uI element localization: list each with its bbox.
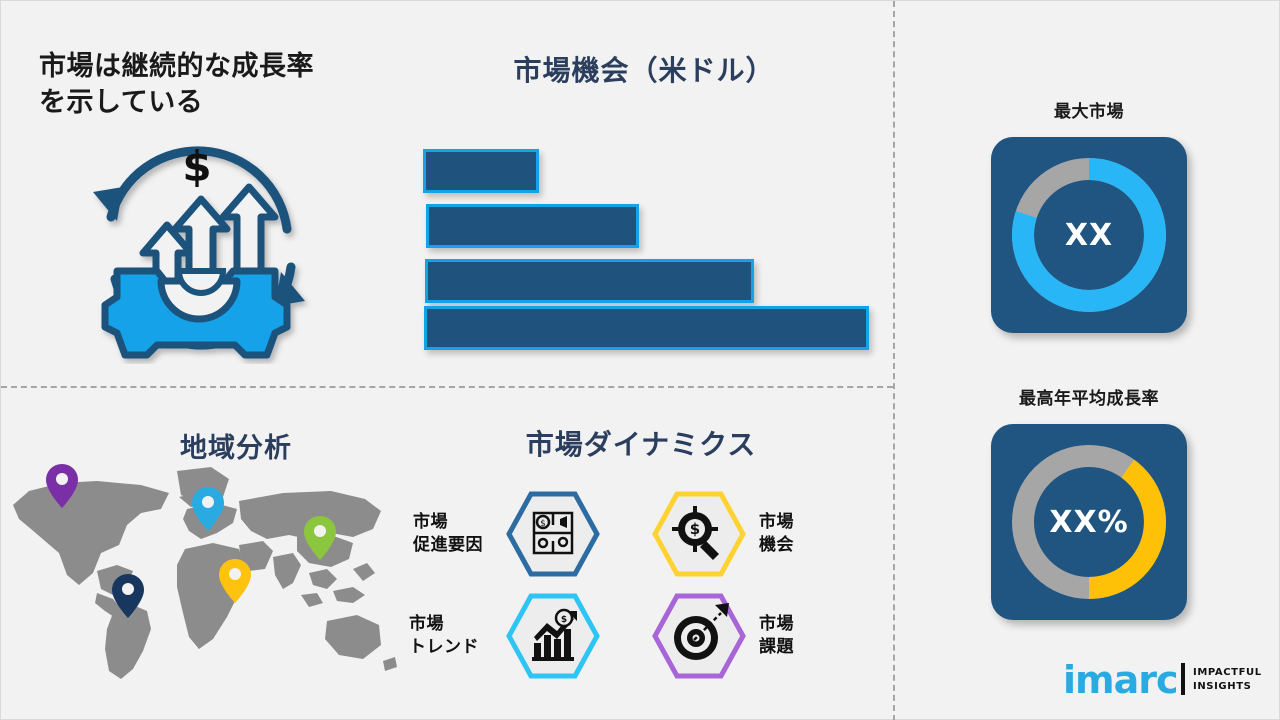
dynamics-item-market-trends[interactable]: 市場 トレンド $: [409, 593, 601, 679]
market-dynamics-heading: 市場ダイナミクス: [406, 423, 876, 463]
dynamics-item-market-drivers[interactable]: 市場 促進要因 $: [413, 491, 601, 577]
dynamics-label-market-opportunities: 市場 機会: [759, 511, 839, 557]
infographic-slide: 市場は継続的な成長率 を示している: [0, 0, 1280, 720]
logo-wordmark: imarc: [1063, 661, 1178, 699]
svg-text:$: $: [561, 615, 567, 625]
highest-cagr-heading: 最高年平均成長率: [939, 384, 1239, 409]
map-pin-middle-east-africa[interactable]: [218, 558, 252, 604]
largest-market-value: XX: [991, 137, 1187, 333]
dynamics-label-market-challenges: 市場 課題: [759, 613, 839, 659]
largest-market-heading: 最大市場: [939, 97, 1239, 122]
bar-2: [426, 204, 639, 248]
puzzle-icon: $: [505, 491, 601, 577]
highest-cagr-card: XX%: [991, 424, 1187, 620]
dynamics-item-market-opportunities[interactable]: $ 市場 機会: [651, 491, 839, 577]
logo-divider-bar: [1181, 663, 1185, 695]
bar-3: [425, 259, 754, 303]
map-pin-asia-pacific[interactable]: [303, 515, 337, 561]
growth-chart-icon: $: [505, 593, 601, 679]
map-pin-north-america[interactable]: [45, 463, 79, 509]
dynamics-label-market-drivers: 市場 促進要因: [413, 511, 505, 557]
dynamics-item-market-challenges[interactable]: 市場 課題: [651, 593, 839, 679]
svg-text:$: $: [540, 519, 546, 529]
bar-4: [424, 306, 869, 350]
map-pin-europe[interactable]: [191, 486, 225, 532]
largest-market-card: XX: [991, 137, 1187, 333]
highest-cagr-value: XX%: [991, 424, 1187, 620]
bar-1: [423, 149, 539, 193]
target-dart-icon: [651, 593, 747, 679]
money-search-icon: $: [651, 491, 747, 577]
map-pin-latin-america[interactable]: [111, 573, 145, 619]
world-map: [1, 453, 401, 693]
dynamics-label-market-trends: 市場 トレンド: [409, 613, 505, 659]
logo-tagline: IMPACTFUL INSIGHTS: [1193, 666, 1262, 693]
imarc-logo: imarc IMPACTFUL INSIGHTS: [1063, 657, 1263, 705]
svg-text:$: $: [690, 520, 700, 538]
